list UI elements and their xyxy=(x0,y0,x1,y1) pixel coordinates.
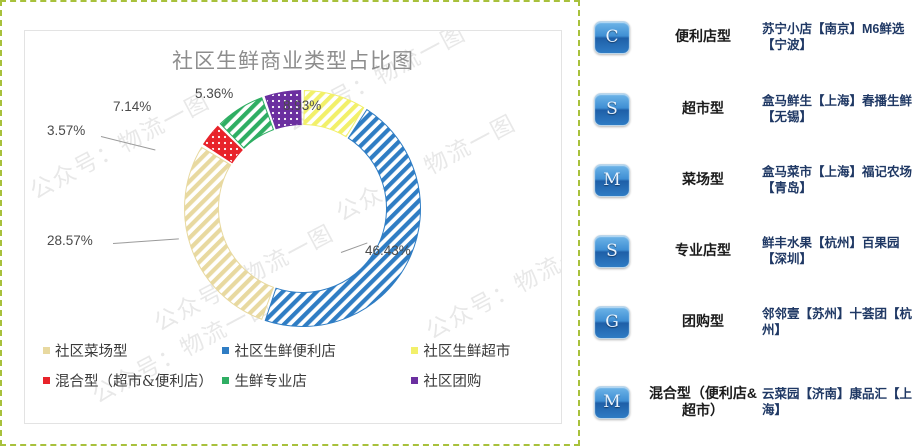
type-examples: 邻邻壹【苏州】十荟团【杭州】 xyxy=(762,306,923,339)
legend-swatch-icon xyxy=(222,377,229,384)
type-examples: 鲜丰水果【杭州】百果园【深圳】 xyxy=(762,235,923,268)
legend-label: 社区生鲜便利店 xyxy=(234,340,336,361)
type-name: 混合型（便利店&超市） xyxy=(644,385,762,420)
type-badge-icon: G xyxy=(594,306,630,339)
type-badge-icon: S xyxy=(594,235,630,268)
chart-canvas: 社区生鲜商业类型占比图 公众号：物流一图 公众号：物流一图 公众号：物流一图 公… xyxy=(24,30,562,424)
list-item: C 便利店型 苏宁小店【南京】M6鲜选【宁波】 xyxy=(580,12,923,62)
list-item: G 团购型 邻邻壹【苏州】十荟团【杭州】 xyxy=(580,297,923,347)
data-label-supermarket: 8.93% xyxy=(283,98,321,113)
leader-line xyxy=(101,136,156,151)
list-item: S 专业店型 鲜丰水果【杭州】百果园【深圳】 xyxy=(580,226,923,276)
type-badge-icon: C xyxy=(594,21,630,54)
infographic-page: 社区生鲜商业类型占比图 公众号：物流一图 公众号：物流一图 公众号：物流一图 公… xyxy=(0,0,923,446)
data-label-groupbuy: 5.36% xyxy=(195,86,233,101)
type-name: 菜场型 xyxy=(644,171,762,189)
legend-label: 社区团购 xyxy=(423,370,481,391)
legend-item-groupbuy: 社区团购 xyxy=(411,370,553,391)
data-label-mixed: 3.57% xyxy=(47,123,85,138)
list-item: M 混合型（便利店&超市） 云菜园【济南】康品汇【上海】 xyxy=(580,368,923,436)
type-examples: 云菜园【济南】康品汇【上海】 xyxy=(762,386,923,419)
type-badge-icon: M xyxy=(594,164,630,197)
legend-item-mixed: 混合型（超市&便利店） xyxy=(43,370,222,391)
legend-swatch-icon xyxy=(411,347,418,354)
data-label-conveniencestore: 46.43% xyxy=(365,243,411,258)
legend-item-specialty: 生鲜专业店 xyxy=(222,370,411,391)
type-name: 便利店型 xyxy=(644,28,762,46)
legend-item-supermarket: 社区生鲜超市 xyxy=(411,340,553,361)
legend-item-wetmarket: 社区菜场型 xyxy=(43,340,222,361)
type-examples: 盒马菜市【上海】福记农场【青岛】 xyxy=(762,164,923,197)
legend-label: 生鲜专业店 xyxy=(234,370,307,391)
type-name: 超市型 xyxy=(644,100,762,118)
donut-chart xyxy=(180,86,425,331)
type-badge-icon: M xyxy=(594,386,630,419)
legend-swatch-icon xyxy=(43,347,50,354)
legend-row: 社区菜场型 社区生鲜便利店 社区生鲜超市 xyxy=(43,341,553,359)
leader-line xyxy=(113,238,179,244)
type-name: 专业店型 xyxy=(644,242,762,260)
donut-svg xyxy=(180,86,425,331)
legend-label: 混合型（超市&便利店） xyxy=(55,370,213,391)
legend-label: 社区菜场型 xyxy=(55,340,128,361)
type-examples: 苏宁小店【南京】M6鲜选【宁波】 xyxy=(762,21,923,54)
data-label-wetmarket: 28.57% xyxy=(47,233,93,248)
legend-label: 社区生鲜超市 xyxy=(423,340,510,361)
chart-legend: 社区菜场型 社区生鲜便利店 社区生鲜超市 混合型（超市&便利店） xyxy=(43,341,553,401)
store-type-list-panel: C 便利店型 苏宁小店【南京】M6鲜选【宁波】 S 超市型 盒马鲜生【上海】春播… xyxy=(580,0,923,446)
chart-title: 社区生鲜商业类型占比图 xyxy=(25,45,561,75)
list-item: M 菜场型 盒马菜市【上海】福记农场【青岛】 xyxy=(580,155,923,205)
type-examples: 盒马鲜生【上海】春播生鲜【无锡】 xyxy=(762,93,923,126)
legend-row: 混合型（超市&便利店） 生鲜专业店 社区团购 xyxy=(43,371,553,389)
legend-item-conveniencestore: 社区生鲜便利店 xyxy=(222,340,411,361)
donut-segment xyxy=(265,110,420,327)
data-label-specialty: 7.14% xyxy=(113,99,151,114)
watermark: 公众号：物流一图 xyxy=(419,222,562,346)
legend-swatch-icon xyxy=(43,377,50,384)
type-name: 团购型 xyxy=(644,313,762,331)
donut-segment xyxy=(184,147,273,319)
type-badge-icon: S xyxy=(594,93,630,126)
chart-panel: 社区生鲜商业类型占比图 公众号：物流一图 公众号：物流一图 公众号：物流一图 公… xyxy=(0,0,580,446)
legend-swatch-icon xyxy=(222,347,229,354)
legend-swatch-icon xyxy=(411,377,418,384)
list-item: S 超市型 盒马鲜生【上海】春播生鲜【无锡】 xyxy=(580,84,923,134)
